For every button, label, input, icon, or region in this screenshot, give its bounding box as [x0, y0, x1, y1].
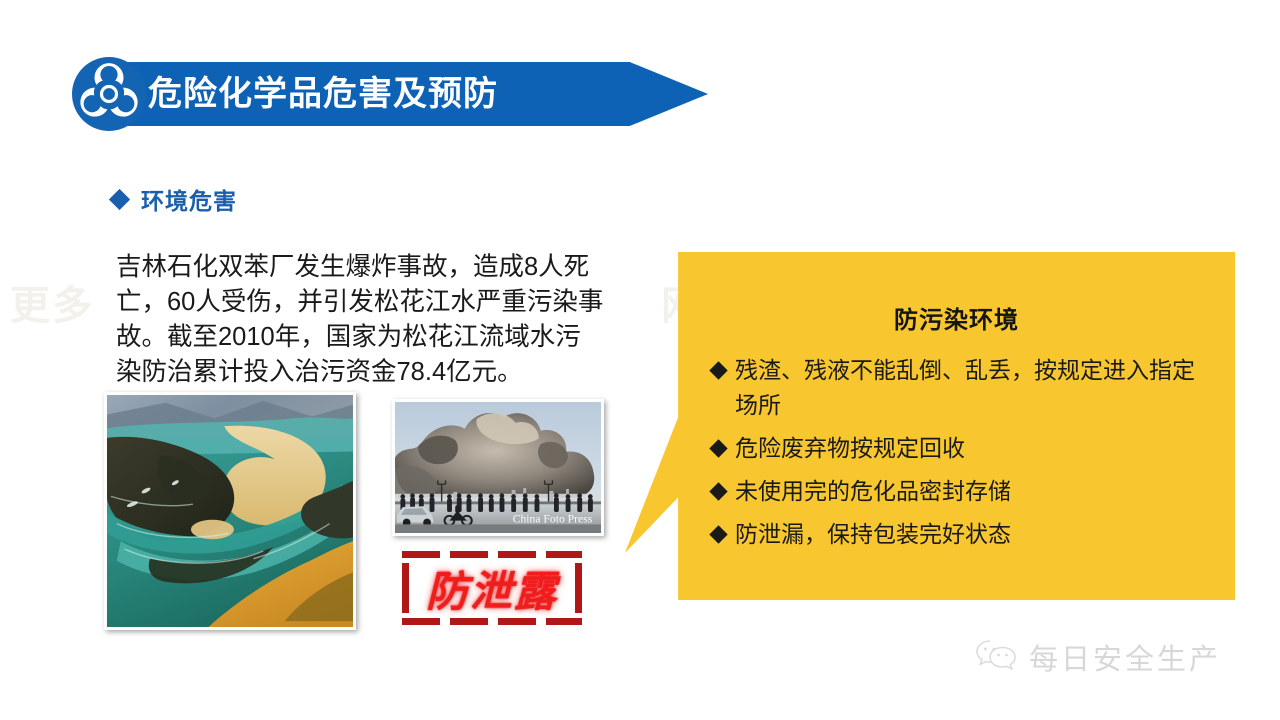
explosion-smoke-photo: China Foto Press	[392, 399, 604, 536]
callout-item-list: 残渣、残液不能乱倒、乱丢，按规定进入指定场所 危险废弃物按规定回收 未使用完的危…	[700, 353, 1213, 552]
callout-item-text: 未使用完的危化品密封存储	[735, 474, 1213, 509]
title-banner: 危险化学品危害及预防	[70, 55, 650, 133]
anti-leak-stamp: 防泄露	[392, 549, 592, 627]
callout-item-text: 防泄漏，保持包装完好状态	[735, 517, 1213, 552]
diamond-bullet-icon	[709, 482, 727, 500]
callout-item-text: 残渣、残液不能乱倒、乱丢，按规定进入指定场所	[735, 353, 1213, 423]
page-title: 危险化学品危害及预防	[148, 62, 498, 126]
diamond-bullet-icon	[709, 525, 727, 543]
callout-item-text: 危险废弃物按规定回收	[735, 431, 1213, 466]
wechat-watermark: 每日安全生产	[975, 636, 1221, 678]
diamond-bullet-icon	[709, 361, 727, 379]
list-item: 未使用完的危化品密封存储	[700, 474, 1213, 509]
diamond-bullet-icon	[709, 439, 727, 457]
wechat-icon	[975, 638, 1017, 677]
body-paragraph: 吉林石化双苯厂发生爆炸事故，造成8人死亡，60人受伤，并引发松花江水严重污染事故…	[116, 250, 606, 390]
list-item: 残渣、残液不能乱倒、乱丢，按规定进入指定场所	[700, 353, 1213, 423]
biohazard-icon	[70, 55, 148, 133]
wechat-watermark-text: 每日安全生产	[1029, 636, 1221, 678]
river-pollution-photo	[104, 392, 356, 630]
background-watermark-left: 更多	[10, 273, 94, 331]
svg-text:China Foto Press: China Foto Press	[513, 513, 593, 526]
callout-title: 防污染环境	[700, 300, 1213, 335]
diamond-bullet-icon	[109, 188, 130, 209]
prevention-callout: 防污染环境 残渣、残液不能乱倒、乱丢，按规定进入指定场所 危险废弃物按规定回收 …	[620, 252, 1235, 600]
section-heading: 环境危害	[112, 182, 237, 216]
anti-leak-stamp-text: 防泄露	[392, 549, 592, 627]
list-item: 防泄漏，保持包装完好状态	[700, 517, 1213, 552]
list-item: 危险废弃物按规定回收	[700, 431, 1213, 466]
section-heading-label: 环境危害	[141, 182, 237, 216]
